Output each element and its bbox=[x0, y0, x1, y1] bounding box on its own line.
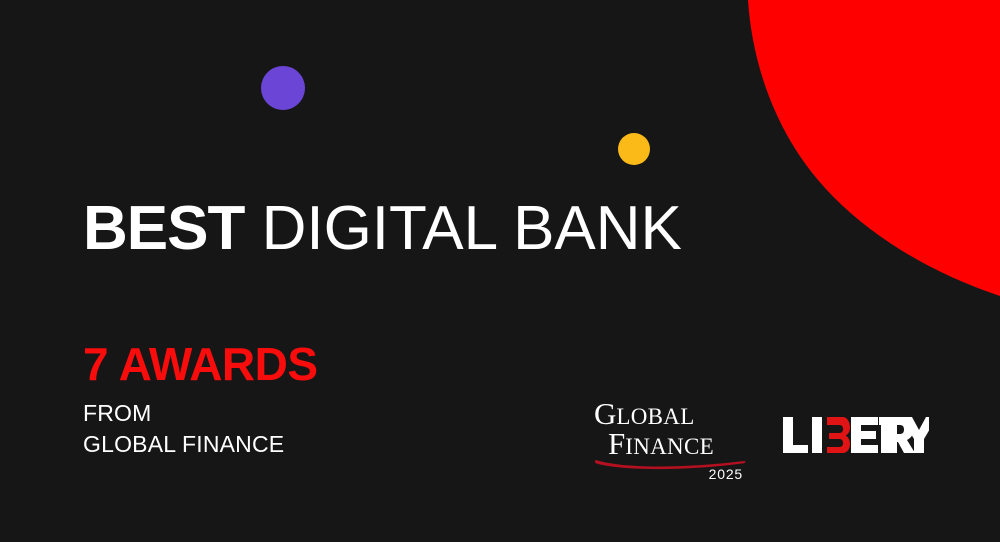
yellow-circle-icon bbox=[618, 133, 650, 165]
global-finance-logo: GLOBAL FINANCE 2025 bbox=[592, 400, 747, 482]
awards-source: FROM GLOBAL FINANCE bbox=[83, 398, 318, 459]
headline: BEST DIGITAL BANK bbox=[83, 198, 682, 260]
purple-circle-icon bbox=[261, 66, 305, 110]
global-finance-word-finance: FINANCE bbox=[608, 430, 747, 459]
awards-source-line1: FROM bbox=[83, 398, 318, 428]
headline-light: DIGITAL BANK bbox=[244, 194, 682, 263]
award-banner: BEST DIGITAL BANK 7 AWARDS FROM GLOBAL F… bbox=[0, 0, 1000, 542]
global-finance-word-global: GLOBAL bbox=[594, 400, 747, 429]
awards-block: 7 AWARDS FROM GLOBAL FINANCE bbox=[83, 340, 318, 459]
headline-strong: BEST bbox=[83, 194, 244, 263]
gf-global-rest: LOBAL bbox=[616, 404, 694, 429]
awards-source-line2: GLOBAL FINANCE bbox=[83, 429, 318, 459]
global-finance-year: 2025 bbox=[709, 466, 743, 482]
liberty-logo-suffix bbox=[879, 412, 929, 458]
red-corner-blob-icon bbox=[0, 0, 1000, 542]
gf-finance-rest: INANCE bbox=[625, 434, 714, 459]
awards-count: 7 AWARDS bbox=[83, 340, 318, 388]
